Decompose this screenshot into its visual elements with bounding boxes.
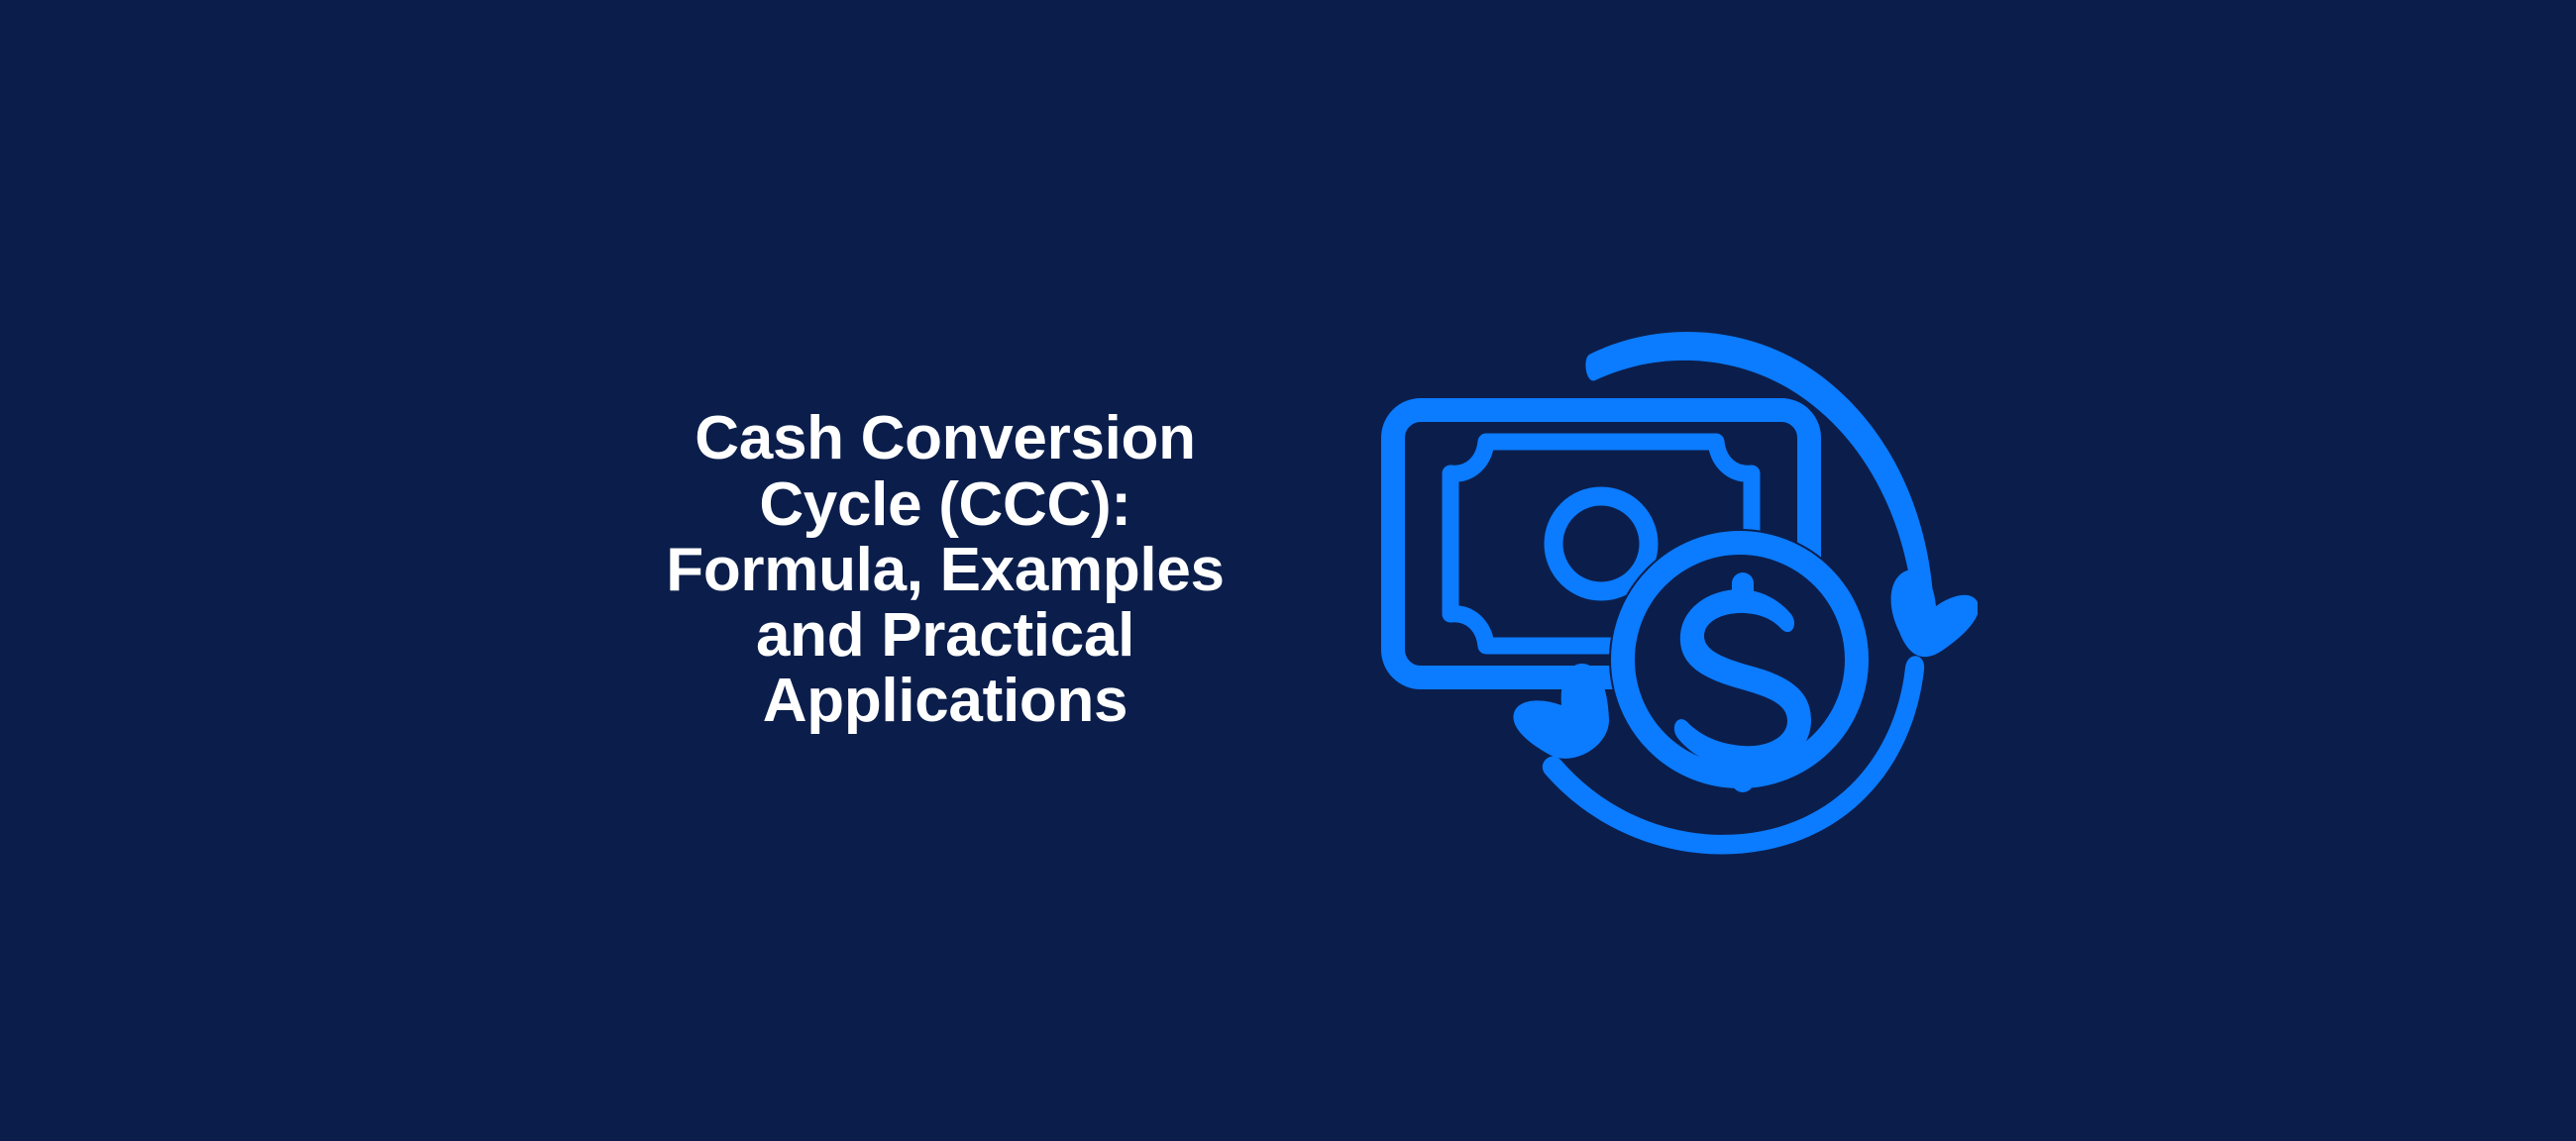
- dollar-coin-icon: [1609, 529, 1871, 792]
- illustration-container: [1363, 263, 1978, 878]
- page-title: Cash Conversion Cycle (CCC): Formula, Ex…: [666, 406, 1224, 735]
- banknote-center-ring: [1554, 496, 1649, 591]
- headline-block: Cash Conversion Cycle (CCC): Formula, Ex…: [598, 406, 1292, 735]
- dollar-sign-top-stem: [1732, 572, 1754, 606]
- banner-content: Cash Conversion Cycle (CCC): Formula, Ex…: [0, 0, 2576, 1141]
- dollar-sign-bottom-stem: [1732, 757, 1754, 792]
- cycle-arrow-top-head: [1891, 570, 1978, 657]
- cash-conversion-cycle-illustration: [1363, 263, 1978, 878]
- banner-root: Cash Conversion Cycle (CCC): Formula, Ex…: [0, 0, 2576, 1141]
